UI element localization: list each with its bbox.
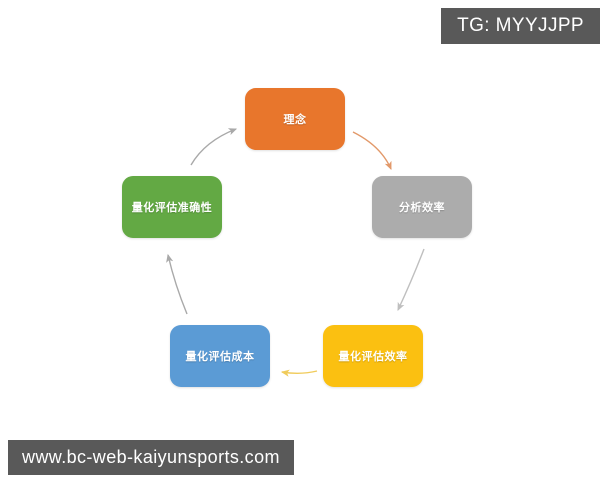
site-watermark: www.bc-web-kaiyunsports.com: [8, 440, 294, 475]
node-idea[interactable]: 理念: [245, 88, 345, 150]
arrow-quant-cost-to-quant-acc: [168, 255, 187, 314]
arrow-quant-acc-to-idea: [191, 129, 236, 165]
node-quant-efficiency[interactable]: 量化评估效率: [323, 325, 423, 387]
node-quant-accuracy[interactable]: 量化评估准确性: [122, 176, 222, 238]
arrow-idea-to-analysis: [353, 132, 391, 169]
arrow-layer: [0, 0, 600, 480]
arrow-analysis-to-quant-eff: [398, 249, 424, 310]
diagram-canvas: 理念 分析效率 量化评估效率 量化评估成本 量化评估准确性 TG: MYYJJP…: [0, 0, 600, 480]
telegram-watermark-badge: TG: MYYJJPP: [441, 8, 600, 44]
node-analysis[interactable]: 分析效率: [372, 176, 472, 238]
arrow-quant-eff-to-quant-cost: [282, 371, 317, 373]
node-quant-cost[interactable]: 量化评估成本: [170, 325, 270, 387]
